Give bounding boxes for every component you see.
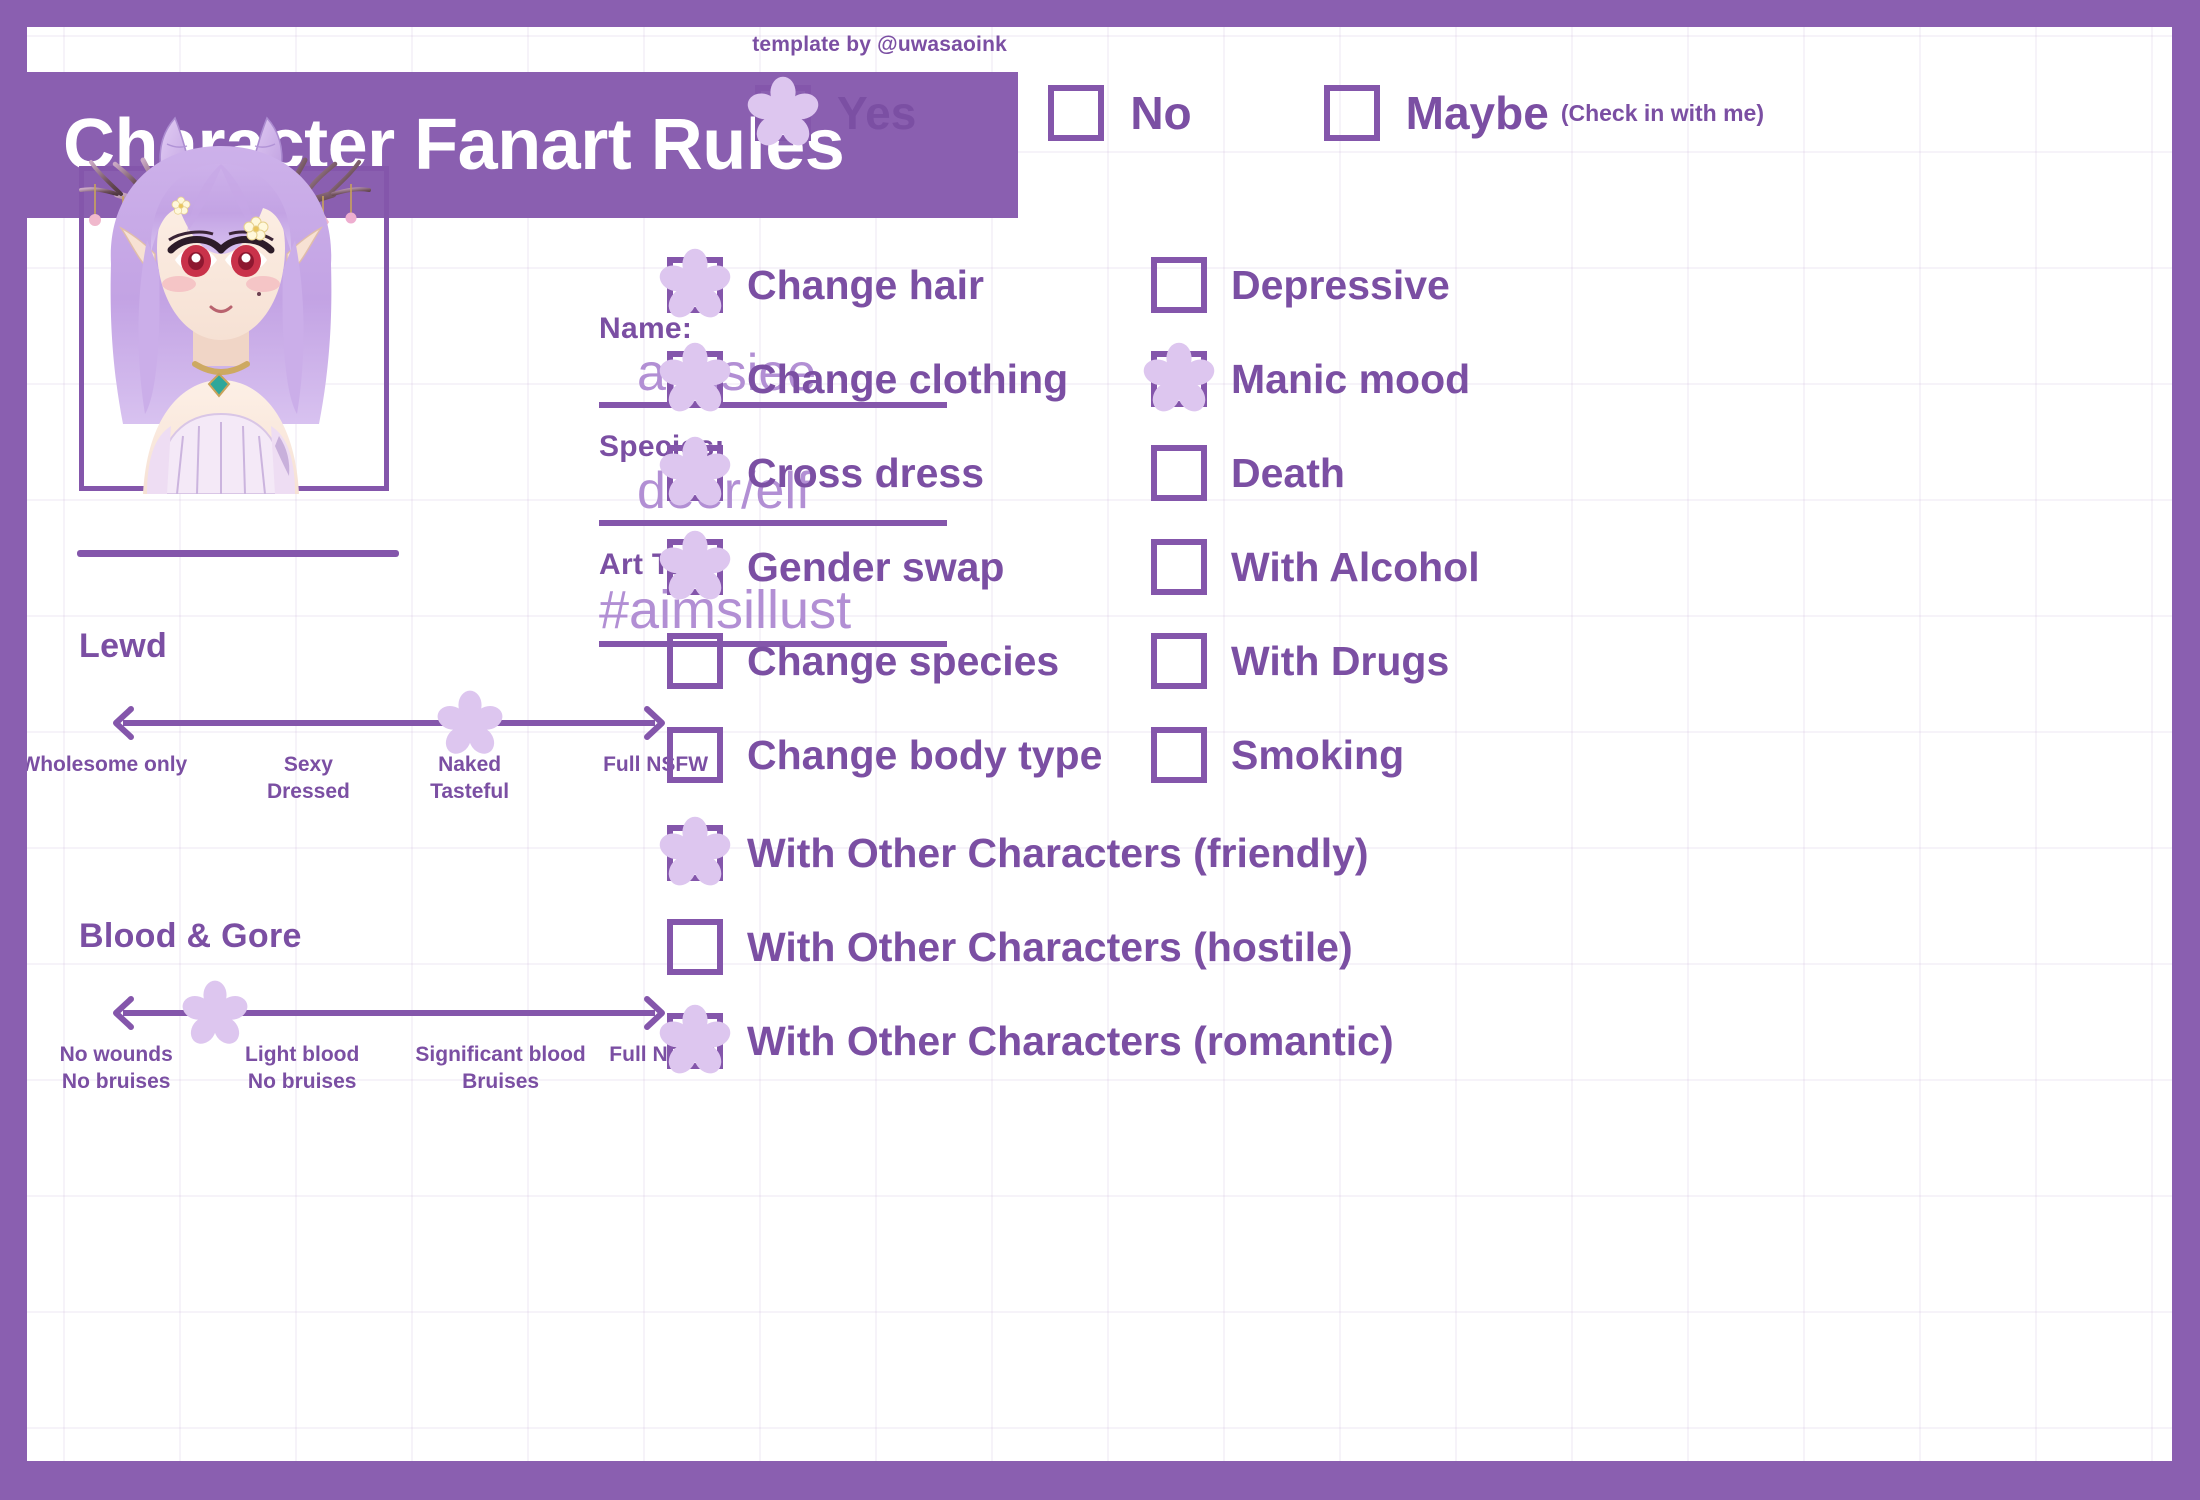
checklist-item-with-drugs[interactable]: With Drugs (1151, 633, 1449, 689)
legend-label: Yes (837, 86, 916, 140)
checklist-item-gender-swap[interactable]: Gender swap (667, 539, 1004, 595)
checklist-item-depressive[interactable]: Depressive (1151, 257, 1450, 313)
legend-item-yes[interactable]: Yes (755, 85, 916, 141)
checkbox-cross-dress[interactable] (667, 445, 723, 501)
arrow-right-icon (643, 706, 667, 740)
slider-marker-sakura-icon[interactable] (436, 690, 504, 758)
checkbox-change-species[interactable] (667, 633, 723, 689)
sheet-background: template by @uwasaoink Character Fanart … (27, 27, 2172, 1461)
checklist-item-with-other-characters-friendly[interactable]: With Other Characters (friendly) (667, 825, 1369, 881)
checklist-item-change-body-type[interactable]: Change body type (667, 727, 1102, 783)
slider-tick-labels: No woundsNo bruisesLight bloodNo bruises… (79, 1042, 699, 1106)
checklist-label: Smoking (1231, 732, 1404, 779)
checkbox-gender-swap[interactable] (667, 539, 723, 595)
sakura-check-icon (658, 436, 732, 510)
character-portrait-image (51, 64, 391, 494)
field-label: Name: (599, 312, 947, 346)
checklist-item-with-alcohol[interactable]: With Alcohol (1151, 539, 1480, 595)
fanart-rules-page: template by @uwasaoink Character Fanart … (0, 0, 2200, 1500)
checklist-item-death[interactable]: Death (1151, 445, 1345, 501)
slider-tick-line1: Light blood (245, 1042, 359, 1069)
slider-tick-line1: Sexy (267, 752, 350, 779)
slider-marker-sakura-icon[interactable] (181, 980, 249, 1048)
legend-item-maybe[interactable]: Maybe(Check in with me) (1324, 85, 1764, 141)
sakura-check-icon (658, 530, 732, 604)
slider-tick-line2: Bruises (415, 1069, 585, 1096)
slider-blood-gore[interactable]: Blood & GoreNo woundsNo bruisesLight blo… (79, 917, 699, 1106)
slider-title: Lewd (79, 627, 699, 666)
checklist-label: Cross dress (747, 450, 984, 497)
slider-tick: SexyDressed (267, 752, 350, 806)
checkbox-change-hair[interactable] (667, 257, 723, 313)
legend-label: No (1130, 86, 1191, 140)
checklist-label: Depressive (1231, 262, 1450, 309)
sakura-check-icon (658, 1004, 732, 1078)
checklist-label: Death (1231, 450, 1345, 497)
checkbox-change-body-type[interactable] (667, 727, 723, 783)
slider-tick-line1: Wholesome only (27, 752, 187, 779)
portrait-blank-line (77, 550, 399, 557)
slider-tick-line2: No bruises (245, 1069, 359, 1096)
checklist-label: With Drugs (1231, 638, 1449, 685)
checklist-label: With Alcohol (1231, 544, 1480, 591)
sakura-check-icon (658, 248, 732, 322)
checklist-item-change-clothing[interactable]: Change clothing (667, 351, 1068, 407)
checklist-item-change-species[interactable]: Change species (667, 633, 1059, 689)
checklist-label: Change body type (747, 732, 1102, 779)
checklist-label: Change hair (747, 262, 984, 309)
checklist-label: With Other Characters (friendly) (747, 830, 1369, 877)
checkbox-change-clothing[interactable] (667, 351, 723, 407)
legend-note: (Check in with me) (1561, 100, 1764, 127)
checkbox-with-other-characters-hostile[interactable] (667, 919, 723, 975)
checkbox-with-alcohol[interactable] (1151, 539, 1207, 595)
arrow-left-icon (111, 706, 135, 740)
slider-tick: Significant bloodBruises (415, 1042, 585, 1096)
checklist-label: With Other Characters (hostile) (747, 924, 1353, 971)
checklist-label: Change species (747, 638, 1059, 685)
sakura-check-icon (746, 76, 820, 150)
checklist-item-change-hair[interactable]: Change hair (667, 257, 984, 313)
checklist-item-with-other-characters-hostile[interactable]: With Other Characters (hostile) (667, 919, 1353, 975)
slider-tick: No woundsNo bruises (60, 1042, 173, 1096)
checkbox-depressive[interactable] (1151, 257, 1207, 313)
slider-tick-line2: Tasteful (430, 779, 509, 806)
sakura-check-icon (658, 342, 732, 416)
checkbox-with-drugs[interactable] (1151, 633, 1207, 689)
checklist-label: Manic mood (1231, 356, 1470, 403)
slider-tick-line2: Dressed (267, 779, 350, 806)
legend-item-no[interactable]: No (1048, 85, 1191, 141)
slider-axis[interactable] (79, 984, 699, 1040)
legend-label: Maybe (1406, 86, 1549, 140)
legend-checkbox-no[interactable] (1048, 85, 1104, 141)
checklist-item-with-other-characters-romantic[interactable]: With Other Characters (romantic) (667, 1013, 1394, 1069)
slider-axis[interactable] (79, 694, 699, 750)
legend-checkbox-maybe[interactable] (1324, 85, 1380, 141)
slider-title: Blood & Gore (79, 917, 699, 956)
slider-track (123, 720, 655, 726)
legend-checkbox-yes[interactable] (755, 85, 811, 141)
slider-tick-line1: No wounds (60, 1042, 173, 1069)
checkbox-manic-mood[interactable] (1151, 351, 1207, 407)
checklist-label: Gender swap (747, 544, 1004, 591)
checklist-label: Change clothing (747, 356, 1068, 403)
slider-tick-line1: Naked (430, 752, 509, 779)
slider-lewd[interactable]: LewdWholesome onlySexyDressedNakedTastef… (79, 627, 699, 816)
checkbox-death[interactable] (1151, 445, 1207, 501)
checklist-item-smoking[interactable]: Smoking (1151, 727, 1404, 783)
slider-tick-line1: Significant blood (415, 1042, 585, 1069)
checklist-item-cross-dress[interactable]: Cross dress (667, 445, 984, 501)
slider-tick: NakedTasteful (430, 752, 509, 806)
arrow-left-icon (111, 996, 135, 1030)
slider-tick-labels: Wholesome onlySexyDressedNakedTastefulFu… (79, 752, 699, 816)
checklist-item-manic-mood[interactable]: Manic mood (1151, 351, 1470, 407)
slider-tick: Light bloodNo bruises (245, 1042, 359, 1096)
template-credit: template by @uwasaoink (497, 33, 1007, 57)
legend: YesNoMaybe(Check in with me) (755, 63, 1764, 163)
slider-tick: Wholesome only (27, 752, 187, 779)
checkbox-with-other-characters-romantic[interactable] (667, 1013, 723, 1069)
checkbox-with-other-characters-friendly[interactable] (667, 825, 723, 881)
sakura-check-icon (1142, 342, 1216, 416)
sakura-check-icon (658, 816, 732, 890)
checklist-label: With Other Characters (romantic) (747, 1018, 1394, 1065)
checkbox-smoking[interactable] (1151, 727, 1207, 783)
character-portrait-block (53, 152, 413, 572)
slider-tick-line2: No bruises (60, 1069, 173, 1096)
